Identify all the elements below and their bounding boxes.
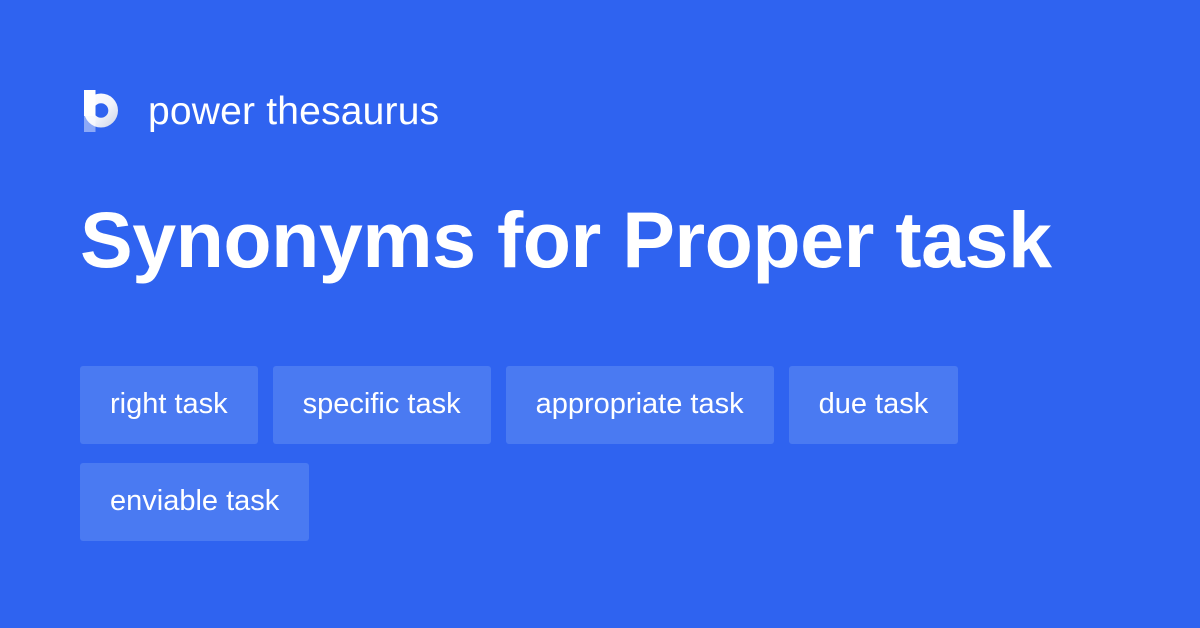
synonyms-share-card: power thesaurus Synonyms for Proper task… [0, 0, 1200, 628]
brand-header[interactable]: power thesaurus [80, 82, 439, 140]
power-thesaurus-logo-icon [80, 86, 126, 136]
synonym-chip[interactable]: specific task [273, 366, 491, 444]
synonym-chip[interactable]: due task [789, 366, 959, 444]
synonym-chip[interactable]: appropriate task [506, 366, 774, 444]
synonym-chip-list: right task specific task appropriate tas… [80, 366, 1120, 541]
brand-name: power thesaurus [148, 92, 439, 131]
synonym-chip[interactable]: enviable task [80, 463, 309, 541]
synonym-chip[interactable]: right task [80, 366, 258, 444]
page-title: Synonyms for Proper task [80, 198, 1051, 282]
